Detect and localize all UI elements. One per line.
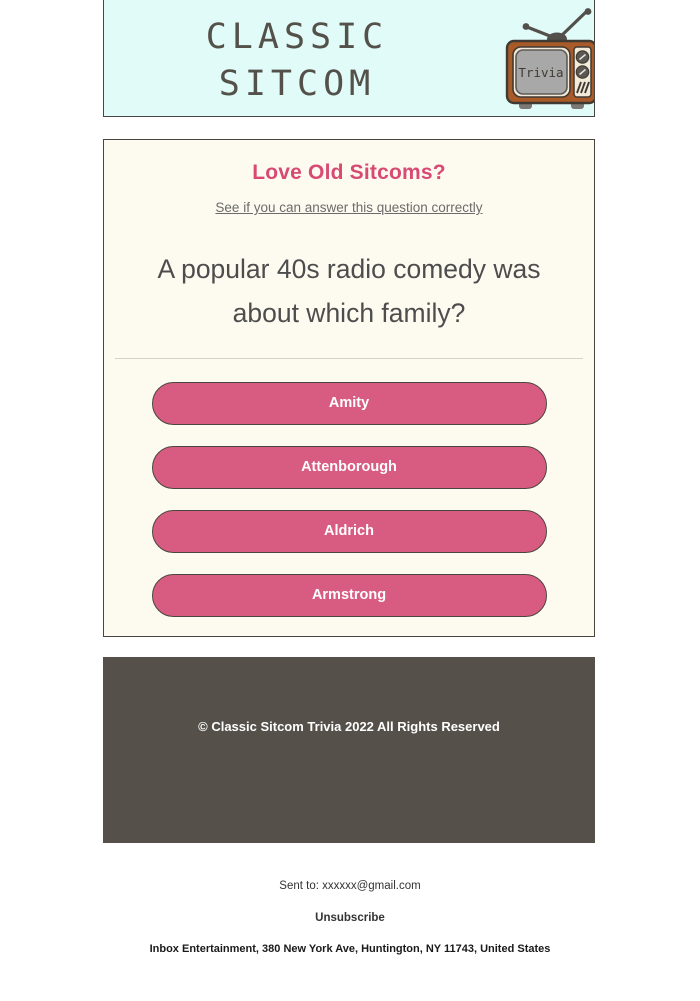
copyright-text: © Classic Sitcom Trivia 2022 All Rights … — [103, 719, 595, 734]
email-header: CLASSIC SITCOM Trivia — [103, 0, 595, 117]
unsubscribe-link[interactable]: Unsubscribe — [0, 912, 700, 924]
answer-option-button[interactable]: Aldrich — [152, 510, 547, 553]
email-page: CLASSIC SITCOM Trivia — [0, 0, 700, 1001]
email-footer: © Classic Sitcom Trivia 2022 All Rights … — [103, 657, 595, 843]
legal-section: Sent to: xxxxxx@gmail.com Unsubscribe In… — [0, 880, 700, 955]
quiz-card: Love Old Sitcoms? See if you can answer … — [103, 139, 595, 637]
sent-to-text: Sent to: xxxxxx@gmail.com — [0, 880, 700, 892]
tv-screen-text: Trivia — [518, 65, 563, 80]
mailing-address-text: Inbox Entertainment, 380 New York Ave, H… — [0, 943, 700, 955]
card-divider — [115, 358, 583, 359]
quiz-subtitle-wrap: See if you can answer this question corr… — [104, 199, 594, 217]
quiz-question-text: A popular 40s radio comedy was about whi… — [148, 247, 550, 335]
answer-option-button[interactable]: Amity — [152, 382, 547, 425]
answer-option-button[interactable]: Attenborough — [152, 446, 547, 489]
brand-logo-text: CLASSIC SITCOM — [132, 14, 462, 108]
answer-option-button[interactable]: Armstrong — [152, 574, 547, 617]
quiz-subtitle-link[interactable]: See if you can answer this question corr… — [215, 200, 482, 215]
quiz-heading: Love Old Sitcoms? — [104, 161, 594, 185]
answer-options-list: Amity Attenborough Aldrich Armstrong — [104, 382, 594, 638]
retro-tv-icon: Trivia — [499, 8, 595, 112]
